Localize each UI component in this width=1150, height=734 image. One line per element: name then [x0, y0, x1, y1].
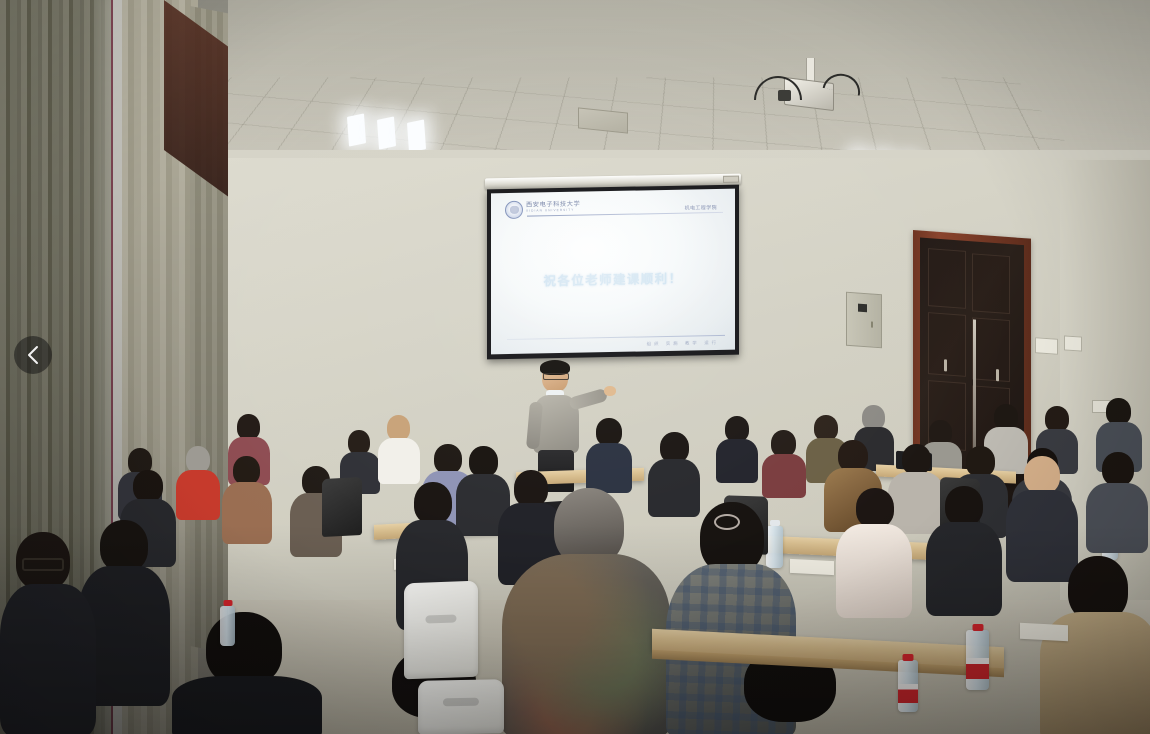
torso — [1086, 483, 1148, 553]
audience-member — [172, 612, 322, 734]
torso — [762, 454, 806, 498]
bottle-label — [898, 684, 918, 703]
torso — [836, 524, 912, 618]
door-handle-left — [944, 359, 947, 371]
slide-footer-rule — [507, 335, 725, 340]
presenter-hand — [604, 386, 616, 396]
head — [596, 418, 622, 446]
presenter-glasses-icon — [543, 373, 569, 380]
projection-screen: 西安电子科技大学 XIDIAN UNIVERSITY 机电工程学院 祝各位老师建… — [487, 178, 739, 358]
university-crest-icon — [505, 201, 523, 219]
torso — [176, 470, 220, 520]
head — [206, 612, 282, 686]
chair[interactable] — [418, 679, 504, 734]
head — [945, 486, 983, 526]
bottle-cap — [223, 600, 232, 606]
audience-member — [586, 418, 632, 486]
door-panel — [972, 253, 1010, 314]
screen-housing-endcap — [723, 176, 739, 183]
bottle-label — [966, 658, 989, 680]
audience-member — [716, 416, 758, 478]
projector-mount — [806, 58, 815, 82]
door-handle-right — [996, 369, 999, 381]
ceiling-light-left-2 — [377, 116, 396, 149]
slide-header: 西安电子科技大学 XIDIAN UNIVERSITY 机电工程学院 — [491, 195, 735, 222]
chair[interactable] — [322, 477, 362, 537]
head — [100, 520, 148, 572]
head — [1024, 456, 1060, 494]
photo-viewer: 西安电子科技大学 XIDIAN UNIVERSITY 机电工程学院 祝各位老师建… — [0, 0, 1150, 734]
water-bottle — [966, 630, 989, 690]
bottle-cap — [903, 654, 914, 661]
screen-frame: 西安电子科技大学 XIDIAN UNIVERSITY 机电工程学院 祝各位老师建… — [487, 185, 739, 360]
wall-light-switch-1 — [1035, 337, 1058, 355]
head — [856, 488, 894, 528]
ceiling-light-left-3 — [407, 119, 426, 152]
torso — [716, 439, 758, 483]
paper-sheet — [790, 559, 834, 575]
audience-member — [222, 456, 272, 540]
audience-member — [762, 430, 806, 490]
slide-surface: 西安电子科技大学 XIDIAN UNIVERSITY 机电工程学院 祝各位老师建… — [491, 189, 735, 355]
door-panel — [928, 248, 966, 309]
torso — [378, 438, 420, 484]
lecture-room-photo: 西安电子科技大学 XIDIAN UNIVERSITY 机电工程学院 祝各位老师建… — [0, 0, 1150, 734]
head — [771, 430, 796, 457]
audience-member — [1040, 556, 1150, 734]
torso — [222, 482, 272, 544]
torso — [172, 676, 322, 734]
paper-sheet — [1020, 623, 1068, 642]
wall-light-switch-2 — [1064, 335, 1082, 351]
audience-member — [1086, 452, 1148, 546]
head — [1106, 398, 1131, 425]
torso — [926, 522, 1002, 616]
ceiling-light-left-1 — [347, 113, 366, 146]
hair-clip-icon — [714, 514, 740, 530]
head — [133, 470, 163, 502]
water-bottle — [898, 660, 918, 712]
head — [233, 456, 260, 485]
chevron-left-icon — [26, 345, 40, 365]
audience-member — [926, 486, 1002, 610]
audience-member — [836, 488, 912, 612]
head — [414, 482, 452, 524]
glasses-icon — [22, 558, 64, 571]
torso — [586, 443, 632, 493]
head — [1102, 452, 1134, 486]
slide-department: 机电工程学院 — [685, 204, 717, 212]
audience-member — [0, 532, 96, 732]
previous-image-button[interactable] — [14, 336, 52, 374]
head — [469, 446, 498, 477]
bottle-cap — [972, 624, 983, 631]
slide-footer-text: 组织 实施 教学 运行 — [647, 340, 719, 347]
head — [186, 446, 210, 473]
head — [902, 444, 931, 475]
electrical-utility-panel — [846, 292, 882, 349]
torso — [502, 554, 670, 734]
head — [966, 446, 995, 477]
door-panel — [928, 312, 966, 377]
chair[interactable] — [404, 581, 478, 680]
torso — [0, 584, 96, 734]
ceiling-projector — [770, 70, 840, 108]
audience-member — [176, 446, 220, 514]
slide-university-name-en: XIDIAN UNIVERSITY — [526, 208, 574, 213]
audience-member — [502, 488, 670, 734]
audience-member — [378, 415, 420, 477]
door-panel — [972, 317, 1010, 382]
water-bottle — [220, 606, 235, 646]
slide-headline: 祝各位老师建课顺利！ — [491, 267, 735, 291]
slide-header-rule — [527, 211, 723, 216]
